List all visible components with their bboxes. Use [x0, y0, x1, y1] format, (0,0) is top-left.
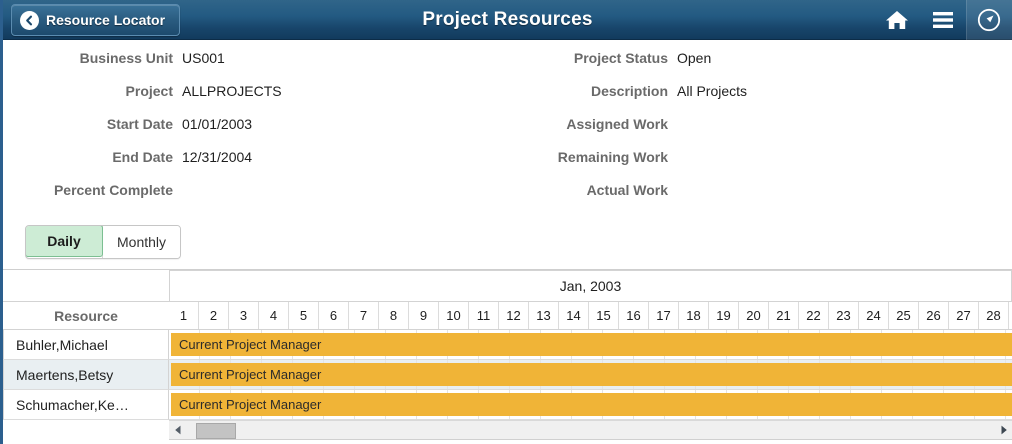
day-header: 7 [349, 302, 379, 329]
day-header: 6 [319, 302, 349, 329]
field-project-status: Project Status Open [503, 50, 1003, 66]
day-header: 21 [769, 302, 799, 329]
header-actions [874, 0, 1012, 40]
resource-column: Resource Buhler,Michael Maertens,Betsy S… [3, 270, 169, 420]
day-header: 27 [949, 302, 979, 329]
scrollbar-thumb[interactable] [196, 423, 236, 439]
field-value: 12/31/2004 [173, 149, 252, 165]
table-row[interactable]: Schumacher,Ke… [3, 390, 169, 420]
day-header: 20 [739, 302, 769, 329]
field-label: End Date [3, 149, 173, 165]
field-row: End Date 12/31/2004 Remaining Work [3, 149, 1012, 182]
field-value: 01/01/2003 [173, 116, 252, 132]
field-value: Open [668, 50, 711, 66]
field-end-date: End Date 12/31/2004 [3, 149, 503, 165]
field-description: Description All Projects [503, 83, 1003, 99]
scroll-right-icon[interactable] [995, 421, 1012, 439]
project-summary-fields: Business Unit US001 Project Status Open … [3, 40, 1012, 219]
home-icon[interactable] [874, 0, 920, 40]
field-project: Project ALLPROJECTS [3, 83, 503, 99]
tab-daily-label: Daily [47, 233, 80, 249]
day-header: 23 [829, 302, 859, 329]
field-value: ALLPROJECTS [173, 83, 282, 99]
timeline-column: Jan, 2003 1 2 3 4 5 6 7 8 9 10 11 12 13 … [169, 270, 1012, 420]
field-percent-complete: Percent Complete [3, 182, 503, 198]
day-header: 25 [889, 302, 919, 329]
field-label: Assigned Work [503, 116, 668, 132]
day-header: 28 [979, 302, 1009, 329]
day-header: 13 [529, 302, 559, 329]
field-row: Business Unit US001 Project Status Open [3, 50, 1012, 83]
gantt-bar[interactable]: Current Project Manager [171, 363, 1012, 386]
day-header: 24 [859, 302, 889, 329]
project-resources-page: Resource Locator Project Resources [0, 0, 1012, 444]
tab-monthly-label: Monthly [117, 234, 166, 250]
field-start-date: Start Date 01/01/2003 [3, 116, 503, 132]
field-label: Business Unit [3, 50, 173, 66]
field-row: Start Date 01/01/2003 Assigned Work [3, 116, 1012, 149]
field-actual-work: Actual Work [503, 182, 1003, 198]
gantt-row: Current Project Manager [169, 360, 1012, 390]
day-header: 12 [499, 302, 529, 329]
day-header: 16 [619, 302, 649, 329]
timeline-day-headers: 1 2 3 4 5 6 7 8 9 10 11 12 13 14 15 16 1 [169, 301, 1012, 330]
field-remaining-work: Remaining Work [503, 149, 1003, 165]
field-label: Start Date [3, 116, 173, 132]
navbar-compass-icon[interactable] [966, 0, 1012, 40]
day-header: 2 [199, 302, 229, 329]
timeline-month-label: Jan, 2003 [169, 270, 1012, 301]
field-label: Project Status [503, 50, 668, 66]
gantt-bar[interactable]: Current Project Manager [171, 393, 1012, 416]
field-assigned-work: Assigned Work [503, 116, 1003, 132]
field-business-unit: Business Unit US001 [3, 50, 503, 66]
field-row: Project ALLPROJECTS Description All Proj… [3, 83, 1012, 116]
resource-column-spacer [3, 270, 169, 301]
field-value: All Projects [668, 83, 747, 99]
horizontal-scrollbar[interactable] [169, 420, 1012, 440]
gantt-chart: Resource Buhler,Michael Maertens,Betsy S… [3, 269, 1012, 440]
chevron-left-icon [20, 11, 39, 30]
scroll-left-icon[interactable] [169, 421, 186, 439]
day-header: 15 [589, 302, 619, 329]
field-label: Description [503, 83, 668, 99]
hamburger-menu-icon[interactable] [920, 0, 966, 40]
app-header: Resource Locator Project Resources [3, 0, 1012, 40]
gantt-bar[interactable]: Current Project Manager [171, 333, 1012, 356]
day-header: 19 [709, 302, 739, 329]
back-button-label: Resource Locator [46, 12, 165, 28]
table-row[interactable]: Maertens,Betsy [3, 360, 169, 390]
field-value: US001 [173, 50, 225, 66]
field-label: Remaining Work [503, 149, 668, 165]
field-label: Project [3, 83, 173, 99]
scrollbar-track[interactable] [186, 421, 995, 439]
view-toggle-container: Daily Monthly [3, 219, 1012, 269]
day-header: 8 [379, 302, 409, 329]
day-header: 10 [439, 302, 469, 329]
tab-daily[interactable]: Daily [25, 225, 103, 257]
gantt-row: Current Project Manager [169, 330, 1012, 360]
day-header: 5 [289, 302, 319, 329]
tab-monthly[interactable]: Monthly [102, 226, 180, 258]
day-header: 1 [169, 302, 199, 329]
day-header: 14 [559, 302, 589, 329]
day-header: 9 [409, 302, 439, 329]
day-header: 3 [229, 302, 259, 329]
day-header: 22 [799, 302, 829, 329]
field-label: Actual Work [503, 182, 668, 198]
day-header: 4 [259, 302, 289, 329]
back-button[interactable]: Resource Locator [11, 4, 180, 36]
day-header: 18 [679, 302, 709, 329]
table-row[interactable]: Buhler,Michael [3, 330, 169, 360]
day-header: 26 [919, 302, 949, 329]
day-header: 11 [469, 302, 499, 329]
resource-column-header: Resource [3, 301, 169, 330]
view-toggle: Daily Monthly [25, 225, 181, 259]
gantt-row: Current Project Manager [169, 390, 1012, 420]
field-label: Percent Complete [3, 182, 173, 198]
day-header: 17 [649, 302, 679, 329]
field-row: Percent Complete Actual Work [3, 182, 1012, 215]
